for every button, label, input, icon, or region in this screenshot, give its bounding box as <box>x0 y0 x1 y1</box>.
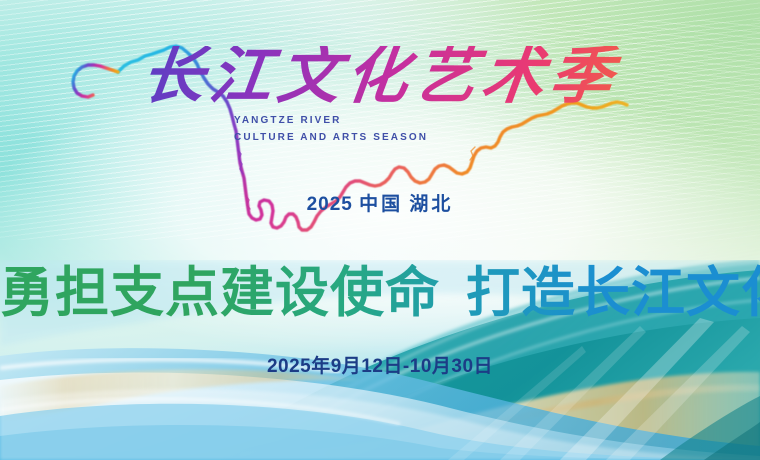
english-subtitle: YANGTZE RIVER CULTURE AND ARTS SEASON <box>234 112 428 146</box>
province-label: 湖北 <box>409 194 453 215</box>
english-subtitle-line-1: YANGTZE RIVER <box>234 112 428 129</box>
year-label: 2025 <box>307 194 353 215</box>
headline-right: 打造长江文化高地 <box>466 263 760 323</box>
year-location-line: 2025 中国 湖北 <box>0 189 760 216</box>
poster-canvas: 长江文化艺术季 YANGTZE RIVER CULTURE AND ARTS S… <box>0 0 760 460</box>
headline-left: 勇担支点建设使命 <box>0 263 440 323</box>
country-label: 中国 <box>359 194 403 215</box>
date-range: 2025年9月12日-10月30日 <box>0 351 760 378</box>
main-headline: 勇担支点建设使命打造长江文化高地 <box>0 264 760 322</box>
calligraphy-title: 长江文化艺术季 <box>0 46 760 108</box>
english-subtitle-line-2: CULTURE AND ARTS SEASON <box>234 129 428 146</box>
